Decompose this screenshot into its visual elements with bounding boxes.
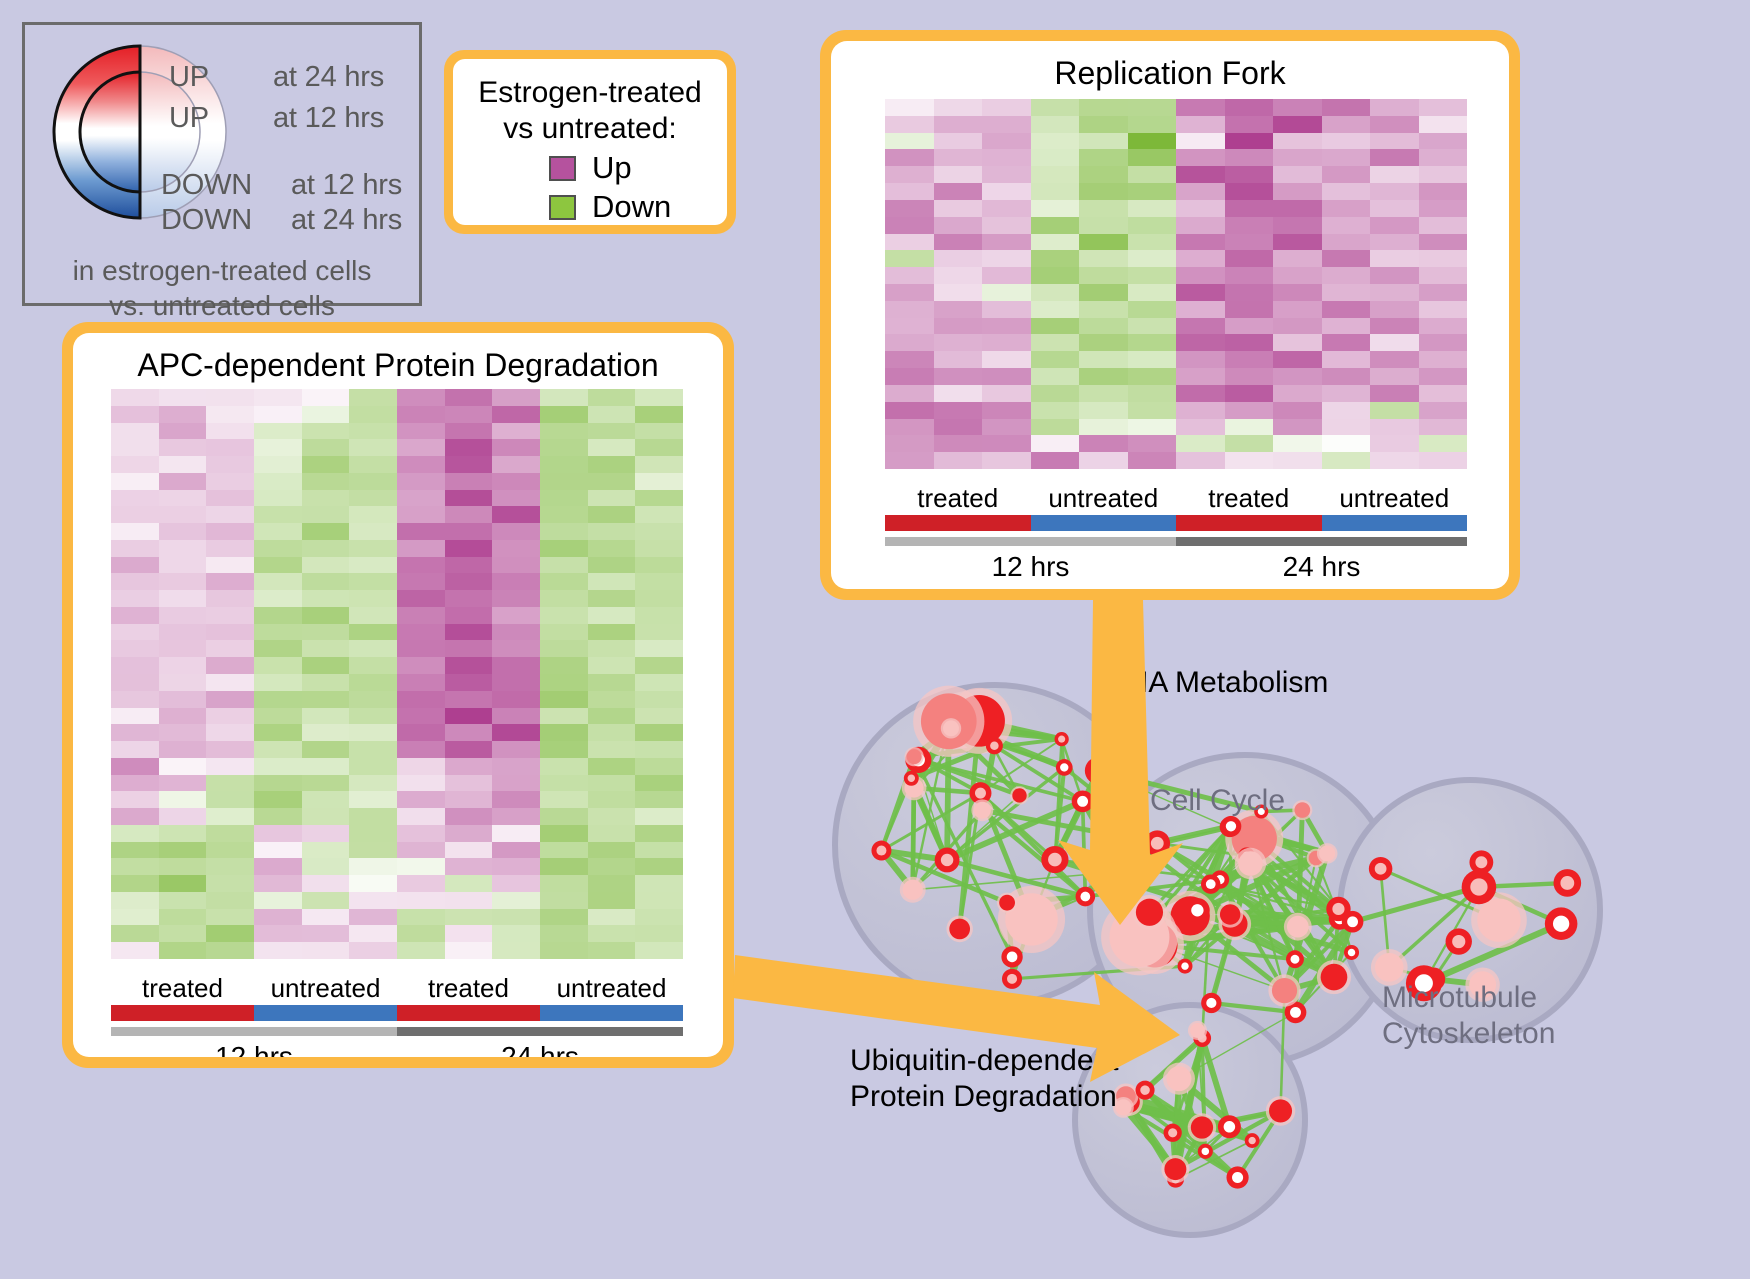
- network-node[interactable]: [1369, 857, 1393, 881]
- network-node[interactable]: [1201, 874, 1220, 893]
- network-node[interactable]: [1001, 946, 1022, 967]
- timepoint-color-bar: [111, 1027, 683, 1036]
- network-node[interactable]: [1218, 1115, 1241, 1138]
- timepoint-label: 24 hrs: [1176, 551, 1467, 583]
- key-note-text: in estrogen-treated cellsvs. untreated c…: [25, 253, 419, 323]
- network-node[interactable]: [1164, 1124, 1182, 1142]
- network-node[interactable]: [941, 718, 961, 738]
- network-node[interactable]: [1144, 830, 1170, 856]
- apc-degradation-heatmap: [111, 389, 683, 959]
- treatment-color-bar: [885, 515, 1467, 531]
- network-node[interactable]: [1132, 895, 1167, 930]
- sample-group-labels: treateduntreatedtreateduntreated: [111, 973, 683, 1004]
- network-node[interactable]: [1553, 869, 1581, 897]
- sample-group-label: treated: [111, 973, 254, 1004]
- network-node[interactable]: [1002, 969, 1022, 989]
- replication-fork-heatmap: [885, 99, 1467, 469]
- network-node[interactable]: [1326, 897, 1350, 921]
- network-node[interactable]: [1010, 786, 1028, 804]
- network-node[interactable]: [1469, 850, 1493, 874]
- network-node[interactable]: [904, 771, 919, 786]
- network-node[interactable]: [1446, 928, 1472, 954]
- key-down-24-label: DOWN: [161, 204, 252, 237]
- network-node[interactable]: [1221, 816, 1242, 837]
- network-node[interactable]: [1112, 861, 1133, 882]
- color-key-box: UP at 24 hrs UP at 12 hrs DOWN at 12 hrs…: [22, 22, 422, 306]
- network-node[interactable]: [1545, 907, 1578, 940]
- network-node[interactable]: [1462, 870, 1497, 905]
- network-node[interactable]: [1055, 732, 1069, 746]
- network-node[interactable]: [986, 737, 1003, 754]
- sample-group-label: untreated: [540, 973, 683, 1004]
- network-node[interactable]: [900, 877, 926, 903]
- sample-group-label: treated: [397, 973, 540, 1004]
- cluster-label-microtubule: MicrotubuleCytoskeleton: [1382, 980, 1555, 1052]
- key-at-12-label-b: at 12 hrs: [291, 169, 402, 202]
- apc-degradation-panel: APC-dependent Protein Degradation treate…: [62, 322, 734, 1068]
- network-node[interactable]: [1163, 1063, 1195, 1095]
- network-node[interactable]: [871, 841, 891, 861]
- up-label: Up: [592, 150, 632, 186]
- network-node[interactable]: [1226, 1166, 1248, 1188]
- sample-group-label: treated: [885, 483, 1031, 514]
- network-node[interactable]: [935, 848, 960, 873]
- legend-item-up: Up: [549, 150, 727, 186]
- network-node[interactable]: [1188, 1021, 1207, 1040]
- treatment-color-bar: [111, 1005, 683, 1021]
- network-node[interactable]: [1188, 1113, 1217, 1142]
- cluster-label-ubiquitin: Ubiquitin-dependentProtein Degradation: [850, 1043, 1119, 1115]
- up-color-swatch: [549, 156, 576, 181]
- network-node[interactable]: [1085, 757, 1113, 785]
- key-at-12-label-a: at 12 hrs: [273, 102, 384, 135]
- network-node[interactable]: [1076, 887, 1096, 907]
- sample-group-label: untreated: [1322, 483, 1468, 514]
- network-node[interactable]: [1178, 959, 1193, 974]
- apc-degradation-title: APC-dependent Protein Degradation: [73, 347, 723, 384]
- legend-item-down: Down: [549, 189, 727, 225]
- network-node[interactable]: [1185, 898, 1210, 923]
- replication-fork-panel: Replication Fork treateduntreatedtreated…: [820, 30, 1520, 600]
- network-node[interactable]: [1292, 800, 1312, 820]
- key-up-24-label: UP: [169, 61, 209, 94]
- key-at-24-label-a: at 24 hrs: [273, 61, 384, 94]
- timepoint-label: 12 hrs: [885, 551, 1176, 583]
- down-color-swatch: [549, 195, 576, 220]
- cluster-label-dna-metabolism: DNA Metabolism: [1105, 665, 1328, 701]
- network-node[interactable]: [1072, 790, 1094, 812]
- key-down-12-label: DOWN: [161, 169, 252, 202]
- key-up-12-label: UP: [169, 102, 209, 135]
- timepoint-label: 24 hrs: [397, 1041, 683, 1057]
- network-node[interactable]: [1041, 846, 1068, 873]
- network-node[interactable]: [1217, 901, 1243, 927]
- network-node[interactable]: [946, 916, 973, 943]
- key-at-24-label-b: at 24 hrs: [291, 204, 402, 237]
- sample-group-label: untreated: [1031, 483, 1177, 514]
- network-node[interactable]: [905, 747, 924, 766]
- updown-legend-title: Estrogen-treatedvs untreated:: [453, 75, 727, 147]
- network-node[interactable]: [1317, 960, 1351, 994]
- sample-group-label: treated: [1176, 483, 1322, 514]
- network-node[interactable]: [1317, 843, 1338, 864]
- network-node[interactable]: [1286, 950, 1304, 968]
- network-node[interactable]: [997, 893, 1017, 913]
- down-label: Down: [592, 189, 671, 225]
- cluster-label-cell-cycle: Cell Cycle: [1150, 783, 1285, 819]
- network-node[interactable]: [1056, 759, 1073, 776]
- network-node[interactable]: [1161, 1155, 1189, 1183]
- network-node[interactable]: [1136, 1081, 1155, 1100]
- network-node[interactable]: [1266, 1096, 1296, 1126]
- network-node[interactable]: [1268, 974, 1300, 1006]
- sample-group-labels: treateduntreatedtreateduntreated: [885, 483, 1467, 514]
- network-node[interactable]: [1235, 848, 1266, 879]
- timepoint-label: 12 hrs: [111, 1041, 397, 1057]
- network-node[interactable]: [1245, 1133, 1260, 1148]
- pathway-network-graph: [790, 620, 1750, 1279]
- timepoint-color-bar: [885, 537, 1467, 546]
- sample-group-label: untreated: [254, 973, 397, 1004]
- network-node[interactable]: [1201, 993, 1221, 1013]
- timepoint-labels: 12 hrs24 hrs: [885, 551, 1467, 583]
- network-node[interactable]: [1198, 1144, 1213, 1159]
- replication-fork-title: Replication Fork: [831, 55, 1509, 92]
- network-node[interactable]: [1284, 913, 1312, 941]
- network-node[interactable]: [1344, 945, 1359, 960]
- network-node[interactable]: [971, 799, 993, 821]
- timepoint-labels: 12 hrs24 hrs: [111, 1041, 683, 1057]
- figure-root: UP at 24 hrs UP at 12 hrs DOWN at 12 hrs…: [0, 0, 1750, 1279]
- updown-legend-box: Estrogen-treatedvs untreated: Up Down: [444, 50, 736, 234]
